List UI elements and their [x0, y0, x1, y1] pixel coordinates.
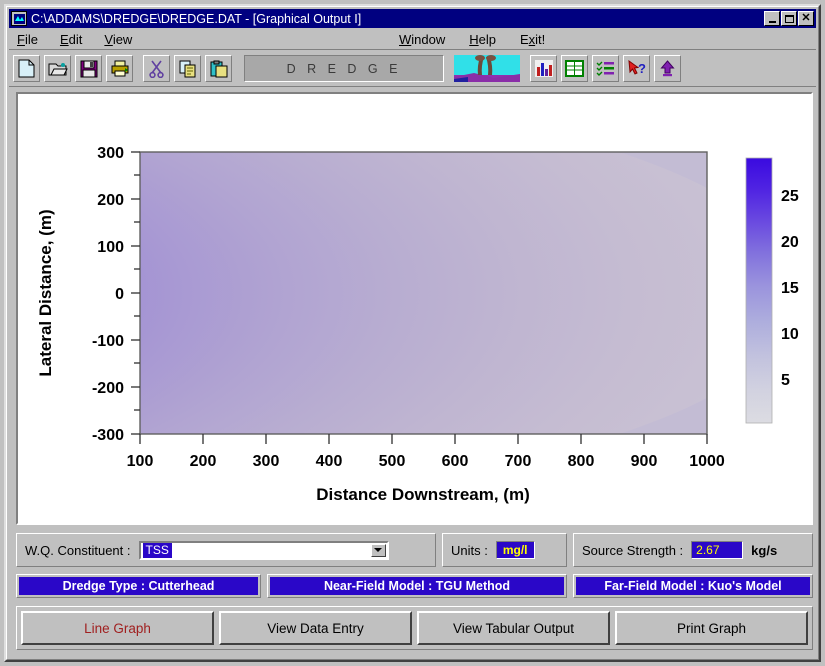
copy-icon[interactable] — [174, 55, 201, 82]
dredge-type-cell: Dredge Type : Cutterhead — [16, 574, 261, 598]
units-label: Units : — [451, 543, 488, 558]
near-field-model-cell: Near-Field Model : TGU Method — [267, 574, 567, 598]
menu-item-window[interactable]: Window — [399, 32, 445, 47]
y-axis-title: Lateral Distance, (m) — [36, 209, 55, 376]
source-strength-unit: kg/s — [751, 543, 777, 558]
menu-item-exit[interactable]: Exit! — [520, 32, 545, 47]
svg-text:400: 400 — [316, 453, 343, 470]
svg-text:-200: -200 — [92, 380, 124, 397]
x-axis-title: Distance Downstream, (m) — [316, 485, 530, 504]
dredge-type-bar: Dredge Type : Cutterhead — [19, 577, 258, 595]
window-frame-outer: C:\ADDAMS\DREDGE\DREDGE.DAT - [Graphical… — [4, 4, 821, 662]
menu-group-right: Window Help Exit! — [399, 32, 545, 47]
controls-row: W.Q. Constituent : TSS Units : mg/l Sour… — [16, 533, 813, 569]
svg-text:10: 10 — [781, 326, 799, 343]
svg-text:500: 500 — [379, 453, 406, 470]
dredge-picture-icon[interactable] — [454, 55, 520, 82]
title-bar: C:\ADDAMS\DREDGE\DREDGE.DAT - [Graphical… — [9, 9, 816, 28]
svg-text:600: 600 — [442, 453, 469, 470]
units-value: mg/l — [496, 541, 535, 559]
application-window: C:\ADDAMS\DREDGE\DREDGE.DAT - [Graphical… — [0, 0, 825, 666]
svg-text:800: 800 — [568, 453, 595, 470]
constituent-group: W.Q. Constituent : TSS — [16, 533, 436, 567]
upload-arrow-icon[interactable] — [654, 55, 681, 82]
list-icon[interactable] — [592, 55, 619, 82]
plume-contour-chart: 300 200 100 0 -100 -200 -300 Lateral Dis… — [18, 94, 811, 523]
svg-text:25: 25 — [781, 188, 799, 205]
svg-text:15: 15 — [781, 280, 799, 297]
menu-item-edit[interactable]: Edit — [60, 32, 82, 47]
cut-scissors-icon[interactable] — [143, 55, 170, 82]
new-file-icon[interactable] — [13, 55, 40, 82]
maximize-button[interactable] — [781, 11, 797, 26]
svg-text:?: ? — [638, 61, 646, 76]
svg-text:1000: 1000 — [689, 453, 725, 470]
application-icon — [11, 11, 27, 26]
paste-icon[interactable] — [205, 55, 232, 82]
toolbar: D R E D G E ? — [9, 51, 816, 87]
bar-chart-icon[interactable] — [530, 55, 557, 82]
svg-text:900: 900 — [631, 453, 658, 470]
window-controls: ✕ — [764, 11, 814, 26]
svg-text:100: 100 — [127, 453, 154, 470]
open-folder-icon[interactable] — [44, 55, 71, 82]
dredge-banner: D R E D G E — [244, 55, 444, 82]
view-data-entry-button[interactable]: View Data Entry — [219, 611, 412, 645]
chevron-down-icon[interactable] — [371, 544, 386, 557]
source-strength-label: Source Strength : — [582, 543, 683, 558]
constituent-value: TSS — [143, 543, 172, 558]
far-field-model-cell: Far-Field Model : Kuo's Model — [573, 574, 813, 598]
svg-text:300: 300 — [253, 453, 280, 470]
units-group: Units : mg/l — [442, 533, 567, 567]
svg-text:200: 200 — [190, 453, 217, 470]
menu-group-left: File Edit View — [17, 32, 132, 47]
menu-item-file[interactable]: File — [17, 32, 38, 47]
svg-text:0: 0 — [115, 286, 124, 303]
menu-item-view[interactable]: View — [104, 32, 132, 47]
save-disk-icon[interactable] — [75, 55, 102, 82]
svg-text:100: 100 — [97, 239, 124, 256]
source-strength-group: Source Strength : 2.67 kg/s — [573, 533, 813, 567]
near-field-model-bar: Near-Field Model : TGU Method — [270, 577, 564, 595]
svg-text:-100: -100 — [92, 333, 124, 350]
svg-text:5: 5 — [781, 372, 790, 389]
print-icon[interactable] — [106, 55, 133, 82]
action-button-row: Line Graph View Data Entry View Tabular … — [16, 606, 813, 650]
svg-text:300: 300 — [97, 145, 124, 162]
svg-text:-300: -300 — [92, 427, 124, 444]
source-strength-value[interactable]: 2.67 — [691, 541, 743, 559]
help-pointer-icon[interactable]: ? — [623, 55, 650, 82]
minimize-button[interactable] — [764, 11, 780, 26]
chart-panel: 300 200 100 0 -100 -200 -300 Lateral Dis… — [16, 92, 813, 525]
constituent-label: W.Q. Constituent : — [25, 543, 131, 558]
window-title: C:\ADDAMS\DREDGE\DREDGE.DAT - [Graphical… — [31, 12, 764, 26]
svg-text:700: 700 — [505, 453, 532, 470]
svg-text:200: 200 — [97, 192, 124, 209]
close-button[interactable]: ✕ — [798, 11, 814, 26]
menu-bar: File Edit View Window Help Exit! — [9, 30, 816, 50]
view-tabular-output-button[interactable]: View Tabular Output — [417, 611, 610, 645]
far-field-model-bar: Far-Field Model : Kuo's Model — [576, 577, 810, 595]
svg-text:20: 20 — [781, 234, 799, 251]
menu-item-help[interactable]: Help — [469, 32, 496, 47]
line-graph-button[interactable]: Line Graph — [21, 611, 214, 645]
info-bar-row: Dredge Type : Cutterhead Near-Field Mode… — [16, 574, 813, 598]
spreadsheet-icon[interactable] — [561, 55, 588, 82]
print-graph-button[interactable]: Print Graph — [615, 611, 808, 645]
constituent-combobox[interactable]: TSS — [139, 541, 389, 560]
